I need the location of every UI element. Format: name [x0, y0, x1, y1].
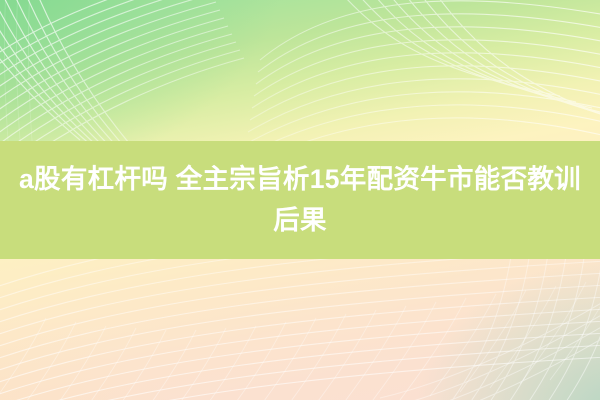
article-title-line-2: 后果 — [273, 200, 327, 241]
title-band: a股有杠杆吗 全主宗旨析15年配资牛市能否教训 后果 — [0, 141, 600, 259]
article-title-line-1: a股有杠杆吗 全主宗旨析15年配资牛市能否教训 — [19, 159, 581, 200]
article-title-banner: a股有杠杆吗 全主宗旨析15年配资牛市能否教训 后果 — [0, 0, 600, 400]
